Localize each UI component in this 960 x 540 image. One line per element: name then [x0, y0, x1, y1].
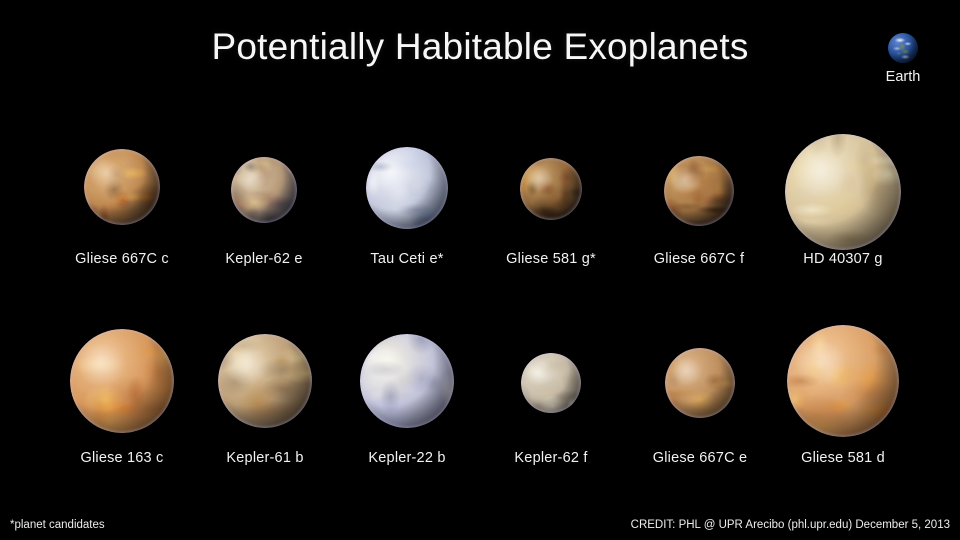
planet-label: Gliese 667C f: [654, 251, 744, 267]
planet-item[interactable]: Tau Ceti e*: [366, 147, 448, 229]
planet-item[interactable]: Kepler-61 b: [218, 334, 312, 428]
credit-line: CREDIT: PHL @ UPR Arecibo (phl.upr.edu) …: [631, 519, 950, 531]
planet-limb-glow: [360, 334, 454, 428]
earth-label: Earth: [863, 69, 943, 85]
planet-limb-glow: [521, 353, 581, 413]
planet-label: Gliese 667C c: [75, 251, 169, 267]
planet-label: Kepler-61 b: [226, 450, 303, 466]
planet-limb-glow: [664, 156, 734, 226]
planet-item[interactable]: Gliese 581 d: [787, 325, 899, 437]
planet-label: Gliese 581 d: [801, 450, 885, 466]
footnote: *planet candidates: [10, 519, 105, 531]
planet-limb-glow: [665, 348, 735, 418]
planet-limb-glow: [218, 334, 312, 428]
planet-item[interactable]: Gliese 581 g*: [520, 158, 582, 220]
planet-sphere-icon: [70, 329, 174, 433]
planet-limb-glow: [70, 329, 174, 433]
planet-label: Gliese 581 g*: [506, 251, 596, 267]
planet-sphere-icon: [665, 348, 735, 418]
planet-item[interactable]: Kepler-62 f: [521, 353, 581, 413]
planet-limb-glow: [231, 157, 297, 223]
page-title: Potentially Habitable Exoplanets: [0, 26, 960, 68]
planet-sphere-icon: [787, 325, 899, 437]
planet-sphere-icon: [366, 147, 448, 229]
planet-limb-glow: [785, 134, 901, 250]
planet-limb-glow: [366, 147, 448, 229]
planet-sphere-icon: [84, 149, 160, 225]
planet-sphere-icon: [360, 334, 454, 428]
planet-item[interactable]: HD 40307 g: [785, 134, 901, 250]
planet-item[interactable]: Kepler-62 e: [231, 157, 297, 223]
planet-item[interactable]: Gliese 667C f: [664, 156, 734, 226]
earth-terminator-shading: [888, 33, 918, 63]
planet-sphere-icon: [231, 157, 297, 223]
planet-label: Gliese 667C e: [653, 450, 748, 466]
planet-sphere-icon: [521, 353, 581, 413]
poster-canvas: Potentially Habitable Exoplanets Earth G…: [0, 0, 960, 540]
planet-limb-glow: [520, 158, 582, 220]
planet-label: Tau Ceti e*: [370, 251, 443, 267]
earth-globe-icon: [888, 33, 918, 63]
planet-label: Kepler-62 f: [514, 450, 587, 466]
planet-item[interactable]: Gliese 667C c: [84, 149, 160, 225]
planet-label: Kepler-62 e: [225, 251, 302, 267]
planet-label: Kepler-22 b: [368, 450, 445, 466]
planet-limb-glow: [84, 149, 160, 225]
planet-limb-glow: [787, 325, 899, 437]
earth-reference: Earth: [863, 33, 943, 85]
planet-item[interactable]: Gliese 163 c: [70, 329, 174, 433]
planet-sphere-icon: [218, 334, 312, 428]
planet-sphere-icon: [520, 158, 582, 220]
planet-item[interactable]: Kepler-22 b: [360, 334, 454, 428]
planet-item[interactable]: Gliese 667C e: [665, 348, 735, 418]
planet-sphere-icon: [664, 156, 734, 226]
planet-label: Gliese 163 c: [81, 450, 164, 466]
planet-sphere-icon: [785, 134, 901, 250]
planet-label: HD 40307 g: [803, 251, 882, 267]
